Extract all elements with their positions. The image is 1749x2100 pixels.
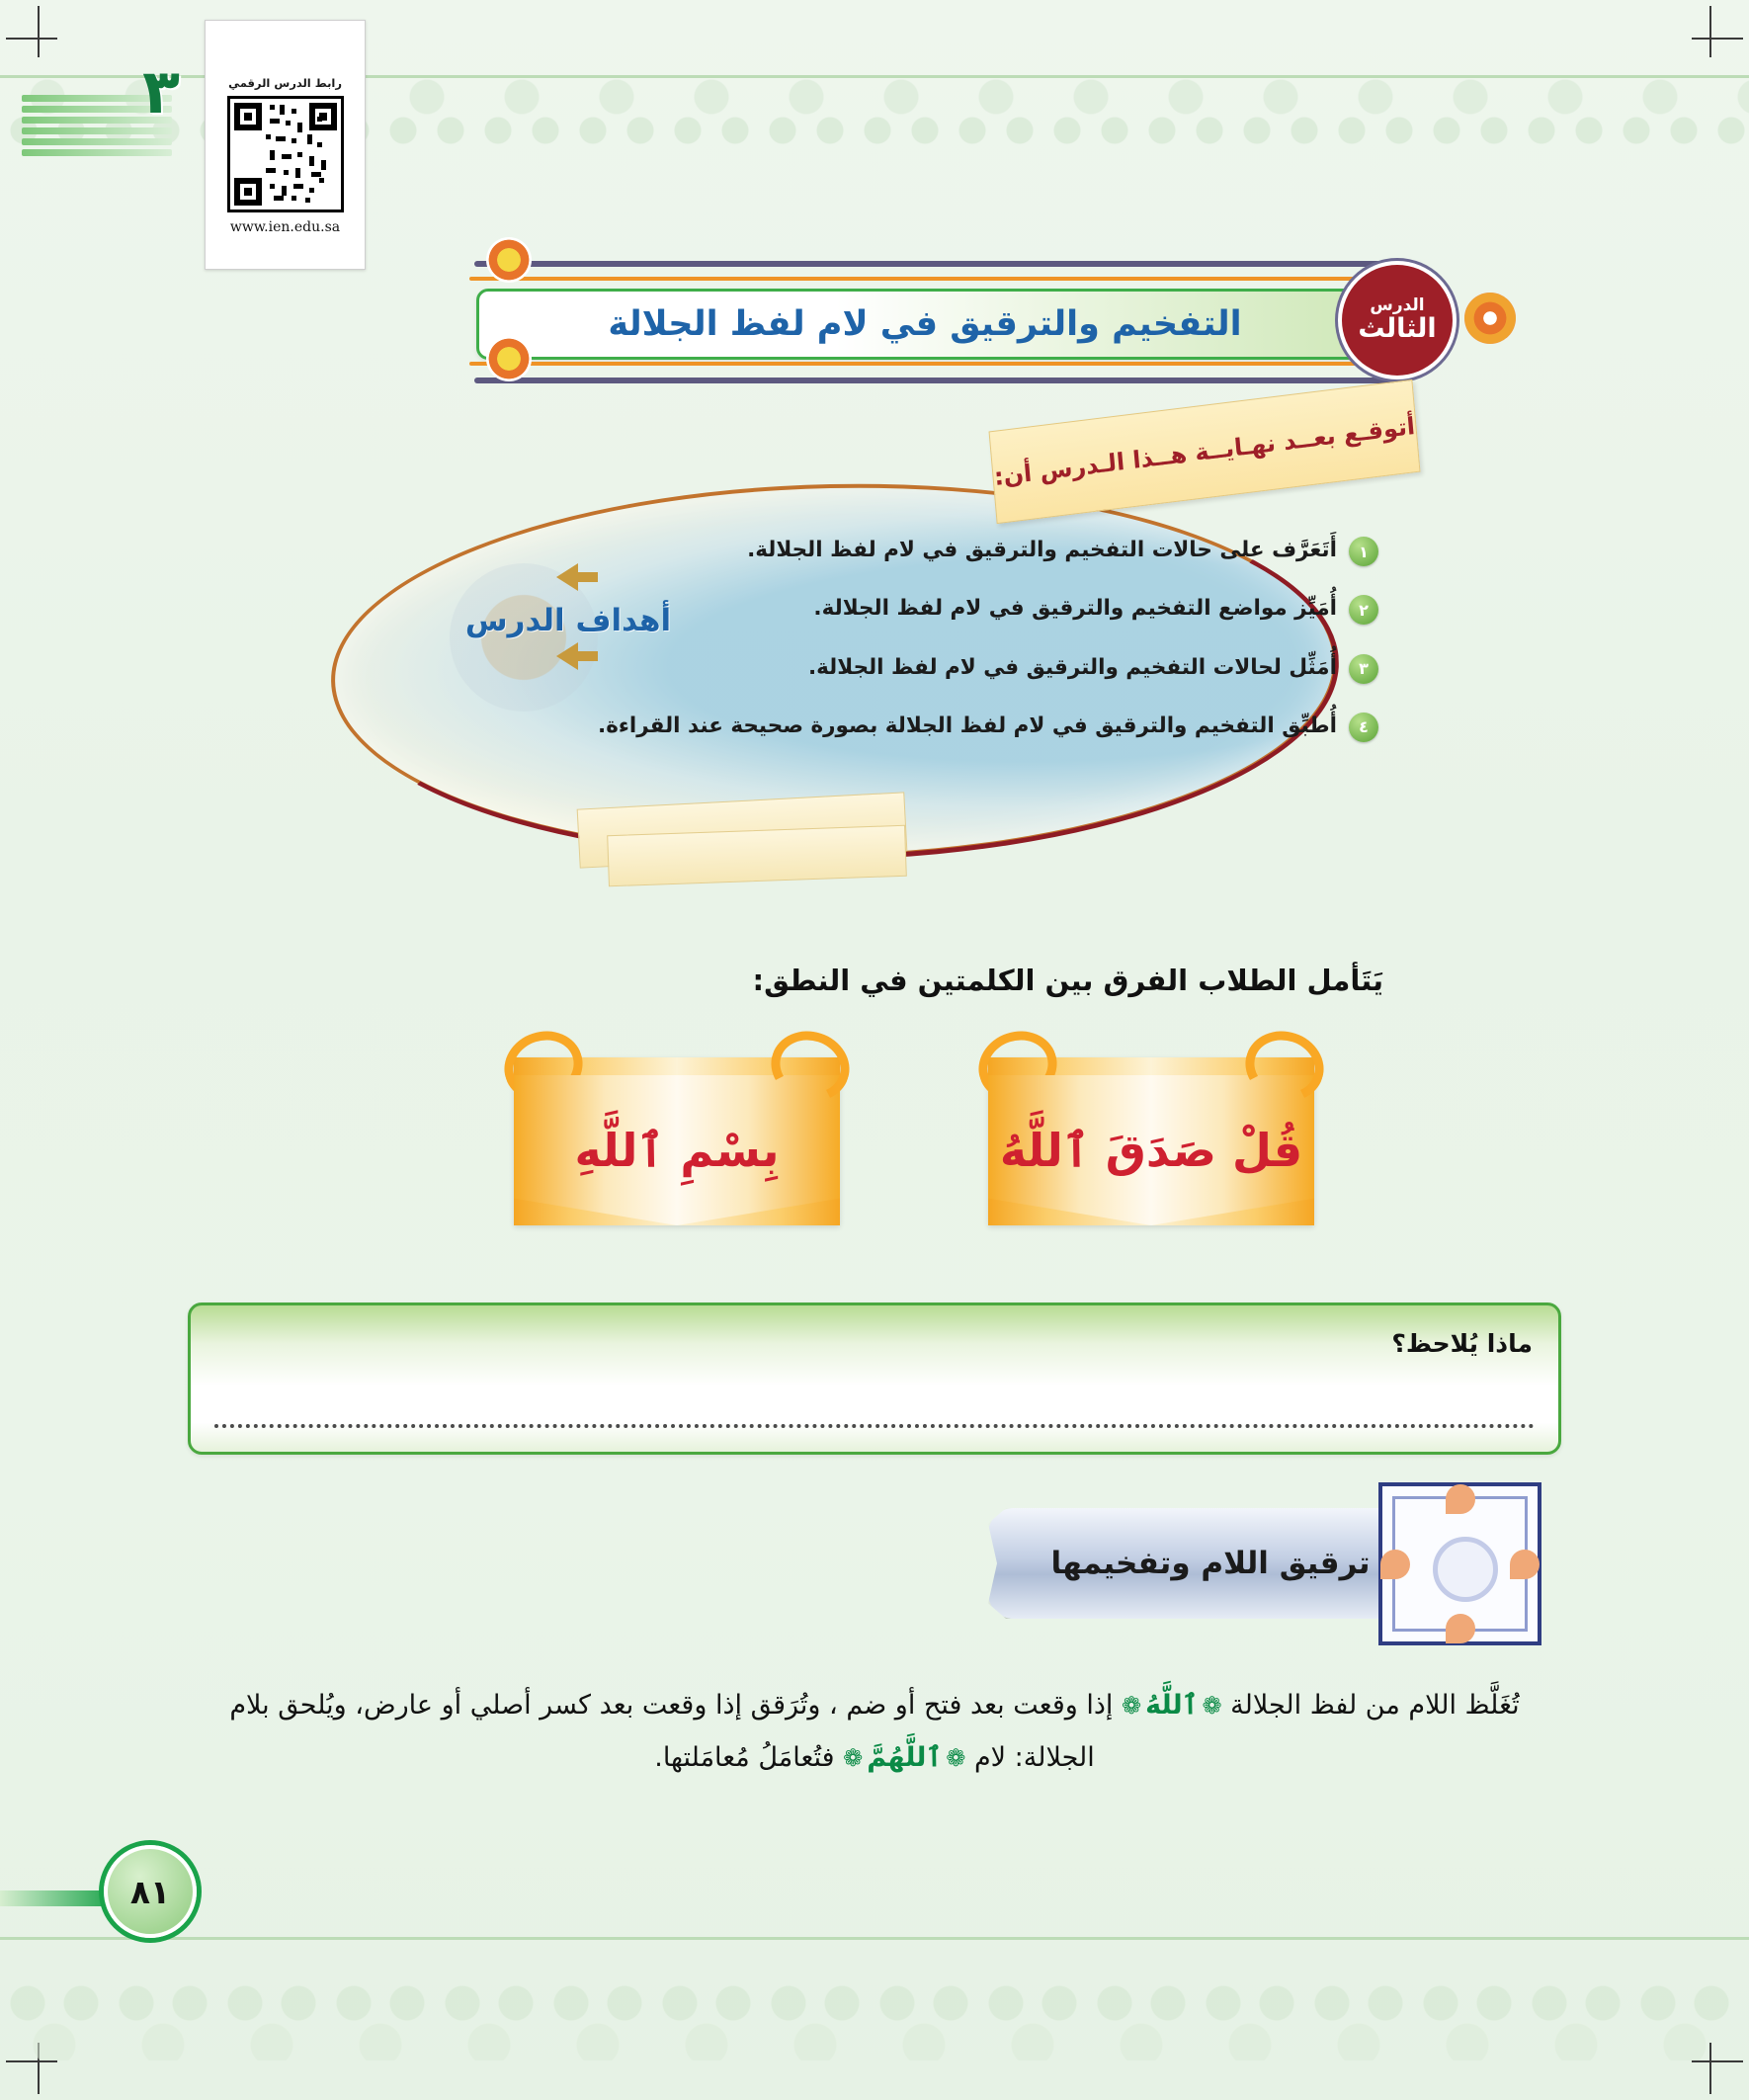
answer-box[interactable]: ماذا يُلاحظ؟ [188, 1302, 1561, 1455]
body-part3: فتُعامَلُ مُعامَلتها. [654, 1742, 834, 1773]
quran-word-allahumma: ٱللَّهُمَّ [863, 1742, 946, 1773]
page-number: ٨١ [104, 1845, 197, 1938]
crop-mark [1692, 2060, 1743, 2062]
qr-code-icon[interactable] [227, 96, 344, 212]
section-heading-plate: ترقيق اللام وتفخيمها [988, 1508, 1433, 1619]
crop-mark [1692, 38, 1743, 40]
objective-item: ٤ أُطبِّق التفخيم والترقيق في لام لفظ ال… [588, 710, 1378, 742]
answer-question-label: ماذا يُلاحظ؟ [1391, 1329, 1533, 1358]
scroll-banner-right: قُلْ صَدَقَ ٱللَّهُ [988, 1057, 1314, 1225]
qr-label: رابط الدرس الرقمي [228, 76, 342, 90]
unit-number: ٣ [142, 61, 180, 123]
unit-tab-stripe [22, 149, 172, 156]
objective-text: أَتَعَرَّف على حالات التفخيم والترقيق في… [747, 534, 1337, 566]
objective-item: ٣ أُمَثِّل لحالات التفخيم والترقيق في لا… [588, 651, 1378, 684]
objective-item: ٢ أُمَيِّز مواضع التفخيم والترقيق في لام… [588, 592, 1378, 625]
scroll-text-left: بِسْمِ ٱللَّهِ [574, 1124, 779, 1177]
lesson-body-paragraph: تُغَلَّظ اللام من لفظ الجلالة ❁ٱللَّهُ❁ … [198, 1680, 1551, 1784]
scroll-text-right: قُلْ صَدَقَ ٱللَّهُ [1000, 1124, 1302, 1177]
objectives-section: أتوقـع بعــد نهـايــة هــذا الـدرس أن: أ… [311, 415, 1448, 939]
section-heading-text: ترقيق اللام وتفخيمها [1050, 1546, 1370, 1581]
objective-number: ٣ [1349, 654, 1378, 684]
textbook-page: ٣ رابط الدرس الرقمي [0, 0, 1749, 2100]
scroll-body: بِسْمِ ٱللَّهِ [514, 1075, 840, 1225]
ornamental-tile-icon [1378, 1482, 1541, 1645]
objectives-arrow-icon [556, 563, 578, 591]
objectives-header: أتوقـع بعــد نهـايــة هــذا الـدرس أن: [989, 379, 1421, 524]
objective-text: أُطبِّق التفخيم والترقيق في لام لفظ الجل… [598, 710, 1337, 742]
objective-text: أُمَيِّز مواضع التفخيم والترقيق في لام ل… [813, 592, 1337, 625]
ornament-rosette-icon [486, 237, 532, 283]
lesson-badge-line2: الثالث [1358, 315, 1436, 343]
unit-tab-stripe [22, 138, 172, 145]
page-curl-decoration [607, 825, 907, 887]
objectives-arrow-icon [556, 642, 578, 670]
qr-card: رابط الدرس الرقمي [205, 20, 366, 270]
scroll-banner-left: بِسْمِ ٱللَّهِ [514, 1057, 840, 1225]
banner-rule-bottom [474, 378, 1403, 383]
banner-rule-top [474, 261, 1403, 267]
lesson-number-badge: الدرس الثالث [1342, 265, 1453, 376]
objectives-list: ١ أَتَعَرَّف على حالات التفخيم والترقيق … [588, 534, 1378, 742]
banner-orange-bottom [469, 362, 1405, 366]
unit-tab-stripe [22, 127, 172, 134]
ornament-rosette-icon [486, 336, 532, 381]
crop-mark [1709, 6, 1711, 57]
quran-word-allah: ٱللَّهُ [1141, 1690, 1202, 1721]
crop-mark [6, 2060, 57, 2062]
objective-item: ١ أَتَعَرَّف على حالات التفخيم والترقيق … [588, 534, 1378, 566]
crop-mark [38, 2043, 40, 2094]
body-part1: تُغَلَّظ اللام من لفظ الجلالة [1230, 1690, 1520, 1721]
bottom-border-line [0, 1937, 1749, 1940]
quran-ornament-open-icon: ❁ [946, 1744, 965, 1772]
objective-number: ٢ [1349, 595, 1378, 625]
objective-number: ١ [1349, 537, 1378, 566]
quran-ornament-close-icon: ❁ [1122, 1692, 1141, 1720]
qr-url: www.ien.edu.sa [230, 219, 340, 235]
crop-mark [6, 38, 57, 40]
crop-mark [1709, 2043, 1711, 2094]
crop-mark [38, 6, 40, 57]
quran-ornament-close-icon: ❁ [843, 1744, 863, 1772]
unit-tab: ٣ [22, 95, 172, 156]
objective-number: ٤ [1349, 713, 1378, 742]
answer-dotted-line[interactable] [214, 1424, 1535, 1428]
banner-orange-top [469, 277, 1405, 281]
quran-ornament-open-icon: ❁ [1202, 1692, 1221, 1720]
ornament-rosette-icon [1464, 293, 1516, 344]
lesson-title-banner: التفخيم والترقيق في لام لفظ الجلالة الدر… [415, 245, 1522, 393]
lesson-title-plate: التفخيم والترقيق في لام لفظ الجلالة [476, 289, 1374, 360]
page-number-tail [0, 1890, 117, 1906]
compare-instruction: يَتَأمل الطلاب الفرق بين الكلمتين في الن… [753, 964, 1384, 997]
bottom-arabesque-band [0, 1942, 1749, 2060]
objective-text: أُمَثِّل لحالات التفخيم والترقيق في لام … [808, 651, 1337, 684]
scroll-body: قُلْ صَدَقَ ٱللَّهُ [988, 1075, 1314, 1225]
lesson-title: التفخيم والترقيق في لام لفظ الجلالة [608, 304, 1241, 344]
objectives-header-text: أتوقـع بعــد نهـايــة هــذا الـدرس أن: [993, 412, 1416, 491]
section-heading: ترقيق اللام وتفخيمها [988, 1482, 1541, 1645]
